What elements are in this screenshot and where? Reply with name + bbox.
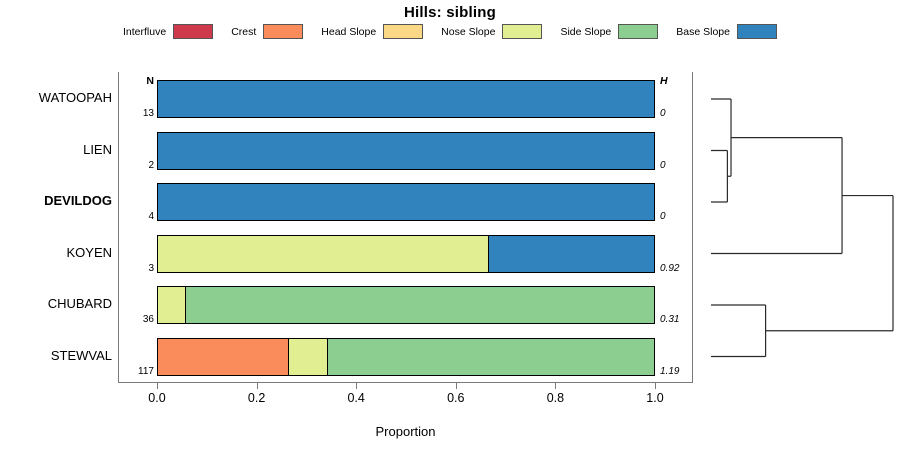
bar-segment-side-slope [328,339,654,375]
table-row: LIEN20 [0,126,700,178]
table-row: CHUBARD360.31 [0,280,700,332]
x-tick-label: 0.2 [234,391,280,405]
row-n-value: 36 [122,314,154,325]
row-label-lien: LIEN [0,142,112,157]
row-h-value: 0.31 [660,314,690,325]
row-h-value: 0 [660,108,690,119]
bar-segment-side-slope [186,287,654,323]
bar-segment-nose-slope [289,339,327,375]
stacked-bar [157,80,655,118]
row-label-stewval: STEWVAL [0,348,112,363]
row-label-devildog: DEVILDOG [0,193,112,208]
bar-segment-base-slope [158,81,654,117]
table-row: STEWVAL1171.19 [0,332,700,384]
row-label-koyen: KOYEN [0,245,112,260]
table-row: WATOOPAH130 [0,74,700,126]
row-n-value: 117 [122,366,154,377]
bar-segment-base-slope [158,184,654,220]
x-axis-title: Proportion [118,424,693,439]
x-tick [655,382,656,389]
x-tick-label: 0.0 [134,391,180,405]
x-tick [356,382,357,389]
x-tick [456,382,457,389]
row-n-value: 4 [122,211,154,222]
x-tick-label: 0.8 [532,391,578,405]
row-h-value: 1.19 [660,366,690,377]
bar-segment-nose-slope [158,287,186,323]
bar-segment-nose-slope [158,236,489,272]
stacked-bar [157,235,655,273]
row-h-value: 0.92 [660,263,690,274]
row-label-chubard: CHUBARD [0,296,112,311]
row-h-value: 0 [660,211,690,222]
table-row: KOYEN30.92 [0,229,700,281]
x-tick-label: 1.0 [632,391,678,405]
stacked-bar [157,183,655,221]
bar-segment-crest [158,339,289,375]
plot-area: N H WATOOPAH130LIEN20DEVILDOG40KOYEN30.9… [0,0,900,460]
x-tick-label: 0.4 [333,391,379,405]
stacked-bar [157,338,655,376]
stacked-bar [157,286,655,324]
row-n-value: 13 [122,108,154,119]
dendrogram [700,0,900,460]
bar-segment-base-slope [489,236,654,272]
stacked-bar [157,132,655,170]
row-n-value: 3 [122,263,154,274]
table-row: DEVILDOG40 [0,177,700,229]
row-h-value: 0 [660,160,690,171]
x-tick [555,382,556,389]
x-tick [157,382,158,389]
bar-segment-base-slope [158,133,654,169]
x-tick [257,382,258,389]
row-n-value: 2 [122,160,154,171]
row-label-watoopah: WATOOPAH [0,90,112,105]
x-tick-label: 0.6 [433,391,479,405]
